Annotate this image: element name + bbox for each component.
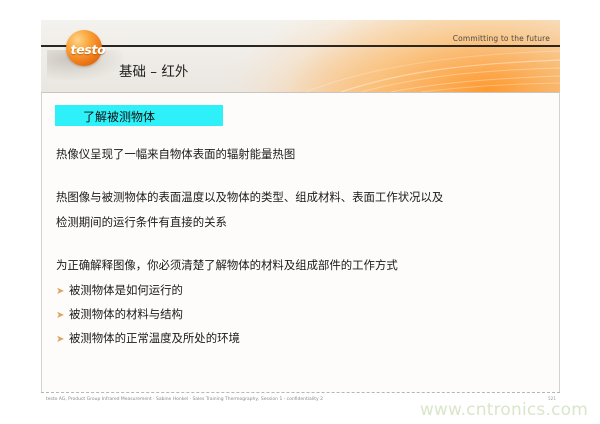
section-highlight-bar: 了解被测物体 — [55, 105, 223, 126]
list-item: ➤ 被测物体的正常温度及所处的环境 — [56, 332, 549, 346]
list-item: ➤ 被测物体是如何运行的 — [56, 284, 549, 298]
list-item-label: 被测物体是如何运行的 — [69, 284, 183, 297]
slide: Committing to the future testo 基础 – 红外 了… — [41, 20, 560, 392]
logo-wordmark: testo — [62, 42, 114, 57]
header-tagline: Committing to the future — [453, 34, 550, 43]
footer-divider — [41, 392, 560, 393]
footer-credits: testo AG, Product Group Infrared Measure… — [46, 396, 323, 401]
testo-logo[interactable]: testo — [66, 30, 106, 70]
header-divider-rule — [41, 45, 560, 47]
bullet-list: ➤ 被测物体是如何运行的 ➤ 被测物体的材料与结构 ➤ 被测物体的正常温度及所处… — [56, 284, 549, 346]
slide-header: Committing to the future testo 基础 – 红外 — [41, 20, 560, 92]
list-item-label: 被测物体的材料与结构 — [69, 308, 183, 321]
page-title: 基础 – 红外 — [119, 60, 188, 80]
list-item-label: 被测物体的正常温度及所处的环境 — [69, 332, 240, 345]
arrow-bullet-icon: ➤ — [56, 284, 69, 298]
slide-body: 了解被测物体 热像仪呈现了一幅来自物体表面的辐射能量热图 热图像与被测物体的表面… — [41, 92, 560, 392]
paragraph-3: 为正确解释图像，你必须清楚了解物体的材料及组成部件的工作方式 — [56, 260, 549, 271]
paragraph-2-line-1: 热图像与被测物体的表面温度以及物体的类型、组成材料、表面工作状况以及 — [56, 192, 549, 203]
body-content: 热像仪呈现了一幅来自物体表面的辐射能量热图 热图像与被测物体的表面温度以及物体的… — [56, 137, 549, 346]
arrow-bullet-icon: ➤ — [56, 332, 69, 346]
watermark: www.cntronics.com — [420, 400, 588, 420]
section-highlight-label: 了解被测物体 — [83, 108, 155, 125]
paragraph-2-line-2: 检测期间的运行条件有直接的关系 — [56, 217, 549, 228]
arrow-bullet-icon: ➤ — [56, 308, 69, 322]
list-item: ➤ 被测物体的材料与结构 — [56, 308, 549, 322]
paragraph-1: 热像仪呈现了一幅来自物体表面的辐射能量热图 — [56, 149, 549, 160]
